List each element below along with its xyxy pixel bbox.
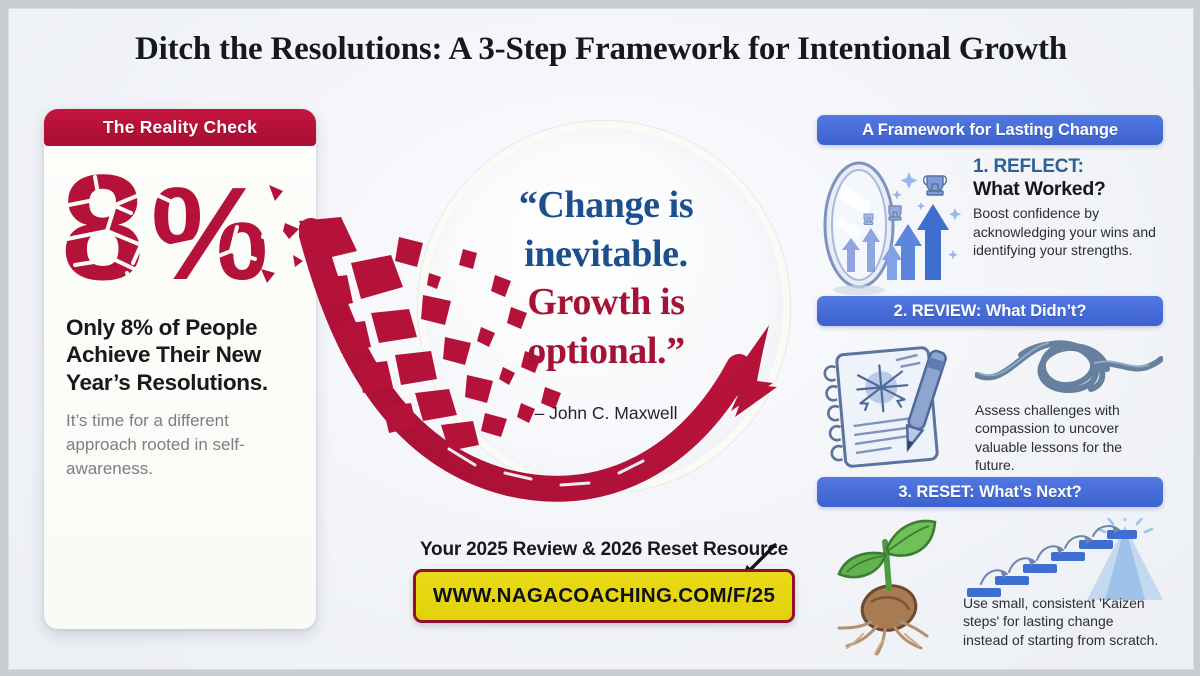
page-title: Ditch the Resolutions: A 3-Step Framewor…	[9, 31, 1193, 68]
reality-check-card: The Reality Check 8 %	[44, 109, 316, 629]
step-3-reset: 3. RESET: What’s Next?	[817, 477, 1163, 666]
seedling-icon	[817, 516, 959, 656]
step-2-review: 2. REVIEW: What Didn’t?	[817, 296, 1163, 485]
step-1-title: What Worked?	[973, 178, 1163, 201]
kaizen-staircase-icon	[963, 518, 1163, 604]
step-1-description: Boost confidence by acknowledging your w…	[973, 204, 1163, 259]
step-1-reflect: A Framework for Lasting Change	[817, 115, 1163, 304]
framework-banner: A Framework for Lasting Change	[817, 115, 1163, 145]
reality-check-subtext: It’s time for a different approach roote…	[66, 409, 276, 481]
infographic-poster: Ditch the Resolutions: A 3-Step Framewor…	[8, 8, 1194, 670]
svg-text:%: %	[151, 160, 268, 303]
quote-attribution: – John C. Maxwell	[447, 403, 765, 424]
quote-line-4: optional.”	[527, 330, 685, 372]
notebook-and-pen-icon	[817, 335, 967, 475]
framework-steps: A Framework for Lasting Change	[817, 115, 1163, 645]
step-2-banner: 2. REVIEW: What Didn’t?	[817, 296, 1163, 326]
quote-line-3: Growth is	[527, 281, 684, 323]
quote-line-2: inevitable.	[524, 233, 687, 275]
step-3-banner: 3. RESET: What’s Next?	[817, 477, 1163, 507]
tangled-knot-icon	[975, 331, 1163, 397]
step-3-description: Use small, consistent 'Kaizen steps' for…	[963, 594, 1161, 649]
cta-url-button[interactable]: WWW.NAGACOACHING.COM/F/25	[413, 569, 795, 623]
reality-check-banner: The Reality Check	[44, 109, 316, 146]
shattered-stat-graphic: 8 %	[44, 151, 316, 311]
step-1-kicker: 1. REFLECT:	[973, 156, 1163, 178]
step-2-description: Assess challenges with compassion to unc…	[975, 401, 1163, 475]
maxwell-quote: “Change is inevitable. Growth is optiona…	[447, 181, 765, 376]
mirror-and-arrows-icon	[817, 154, 969, 296]
quote-line-1: “Change is	[519, 184, 693, 226]
reality-check-headline: Only 8% of People Achieve Their New Year…	[66, 314, 302, 396]
